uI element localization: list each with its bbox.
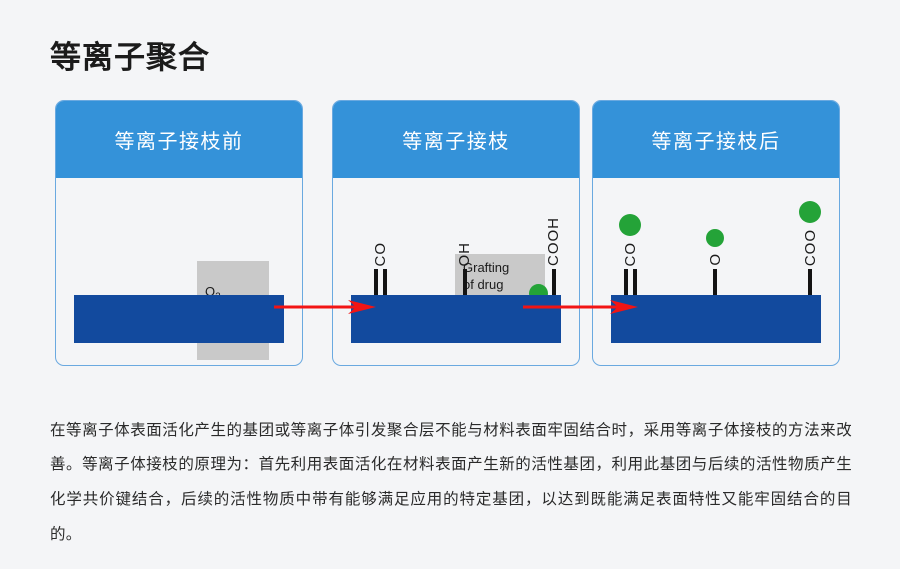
bond-stems — [624, 269, 637, 295]
chemical-group: CO — [373, 242, 388, 296]
panel-grafting: 等离子接枝 Grafting of drug molecules CO OH — [332, 100, 580, 366]
panel-before-grafting: 等离子接枝前 O2 plasma — [55, 100, 303, 366]
bond-stem — [383, 269, 387, 295]
panel-header-label: 等离子接枝前 — [115, 125, 244, 154]
bond-stems — [552, 269, 556, 295]
bond-stem — [713, 269, 717, 295]
bond-stems — [808, 269, 812, 295]
chemical-group-label: COOH — [546, 217, 561, 266]
drug-molecule-dot-icon — [619, 214, 641, 236]
bond-stem — [624, 269, 628, 295]
chemical-group-label: CO — [623, 242, 638, 267]
bond-stem — [374, 269, 378, 295]
bond-stems — [374, 269, 387, 295]
panel-body-before-grafting: O2 plasma — [56, 178, 302, 366]
bond-stems — [463, 269, 467, 295]
chemical-group: O — [706, 229, 724, 295]
panel-header-grafting: 等离子接枝 — [333, 101, 579, 178]
arrow-plasma-to-grafting-icon — [274, 300, 376, 314]
panel-header-label: 等离子接枝后 — [652, 125, 781, 154]
panel-header-after-grafting: 等离子接枝后 — [593, 101, 839, 178]
bond-stem — [808, 269, 812, 295]
panel-body-after-grafting: CO O COO — [593, 178, 839, 366]
bond-stem — [463, 269, 467, 295]
chemical-group: OH — [457, 242, 472, 296]
substrate-bar — [611, 295, 821, 343]
panel-body-grafting: Grafting of drug molecules CO OH CO — [333, 178, 579, 366]
substrate-bar — [74, 295, 284, 343]
panel-header-before-grafting: 等离子接枝前 — [56, 101, 302, 178]
chemical-group-label: O — [708, 253, 723, 266]
chemical-group-label: CO — [373, 242, 388, 267]
bond-stem — [633, 269, 637, 295]
page-title: 等离子聚合 — [50, 39, 210, 76]
chemical-group: CO — [619, 214, 641, 296]
bond-stems — [713, 269, 717, 295]
plasma-grafting-diagram: 等离子接枝前 O2 plasma 等离子接枝 Grafting of drug … — [0, 100, 900, 368]
bond-stem — [552, 269, 556, 295]
description-paragraph: 在等离子体表面活化产生的基团或等离子体引发聚合层不能与材料表面牢固结合时，采用等… — [50, 414, 852, 554]
chemical-group-label: OH — [457, 242, 472, 267]
drug-molecule-dot-icon — [706, 229, 724, 247]
panel-after-grafting: 等离子接枝后 CO O COO — [592, 100, 840, 366]
panel-header-label: 等离子接枝 — [402, 125, 510, 154]
chemical-group-label: COO — [803, 229, 818, 266]
chemical-group: COOH — [546, 217, 561, 295]
drug-molecule-dot-icon — [799, 201, 821, 223]
arrow-grafting-to-after-icon — [523, 300, 638, 314]
chemical-group: COO — [799, 201, 821, 295]
